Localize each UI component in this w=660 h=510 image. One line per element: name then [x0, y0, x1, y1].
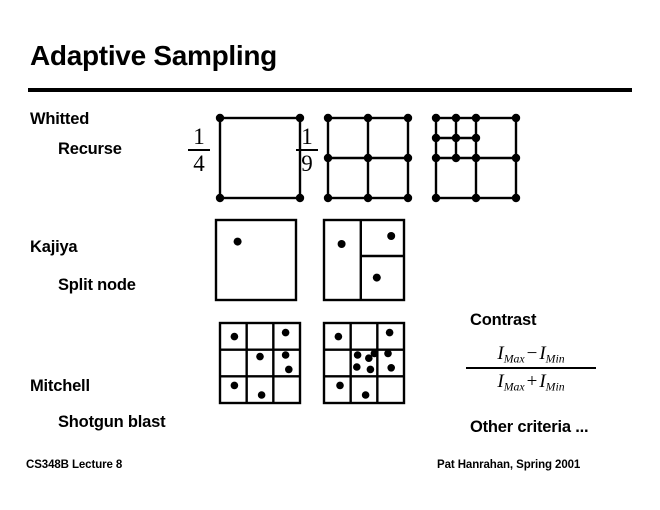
- bullet-other-criteria: Other criteria ...: [470, 418, 588, 437]
- diagram-mitchell-1: [212, 315, 308, 416]
- bullet-recurse: Recurse: [58, 140, 122, 159]
- formula-i-min-subscript: Min: [546, 380, 565, 393]
- formula-denominator: IMax+IMin: [466, 371, 596, 393]
- fraction-denominator: 4: [186, 152, 212, 175]
- diagram-whitted-1: [212, 110, 308, 211]
- diagram-kajiya-1: [208, 212, 304, 313]
- footer-author: Pat Hanrahan, Spring 2001: [437, 459, 580, 471]
- bullet-contrast: Contrast: [470, 311, 536, 330]
- footer-course: CS348B Lecture 8: [26, 459, 122, 471]
- fraction-one-quarter: 1 4: [186, 125, 212, 176]
- title-divider: [28, 88, 632, 92]
- formula-i-max-subscript: Max: [504, 352, 525, 365]
- diagram-mitchell-2: [316, 315, 412, 416]
- formula-minus-operator: −: [525, 343, 540, 364]
- bullet-whitted: Whitted: [30, 110, 89, 129]
- bullet-shotgun-blast: Shotgun blast: [58, 413, 165, 432]
- diagram-kajiya-2: [316, 212, 412, 313]
- formula-fraction-bar: [466, 367, 596, 368]
- bullet-mitchell: Mitchell: [30, 377, 90, 396]
- bullet-split-node: Split node: [58, 276, 136, 295]
- formula-numerator: IMax−IMin: [466, 343, 596, 365]
- page-title: Adaptive Sampling: [30, 42, 277, 70]
- formula-i-min-subscript: Min: [546, 352, 565, 365]
- bullet-kajiya: Kajiya: [30, 238, 77, 257]
- formula-i-max-subscript: Max: [504, 380, 525, 393]
- contrast-formula: IMax−IMin IMax+IMin: [466, 343, 596, 393]
- fraction-numerator: 1: [186, 125, 212, 148]
- formula-plus-operator: +: [525, 371, 540, 392]
- slide-canvas: Adaptive Sampling Whitted Recurse 1 4 1 …: [0, 0, 660, 510]
- diagram-whitted-3: [428, 110, 524, 211]
- diagram-whitted-2: [320, 110, 416, 211]
